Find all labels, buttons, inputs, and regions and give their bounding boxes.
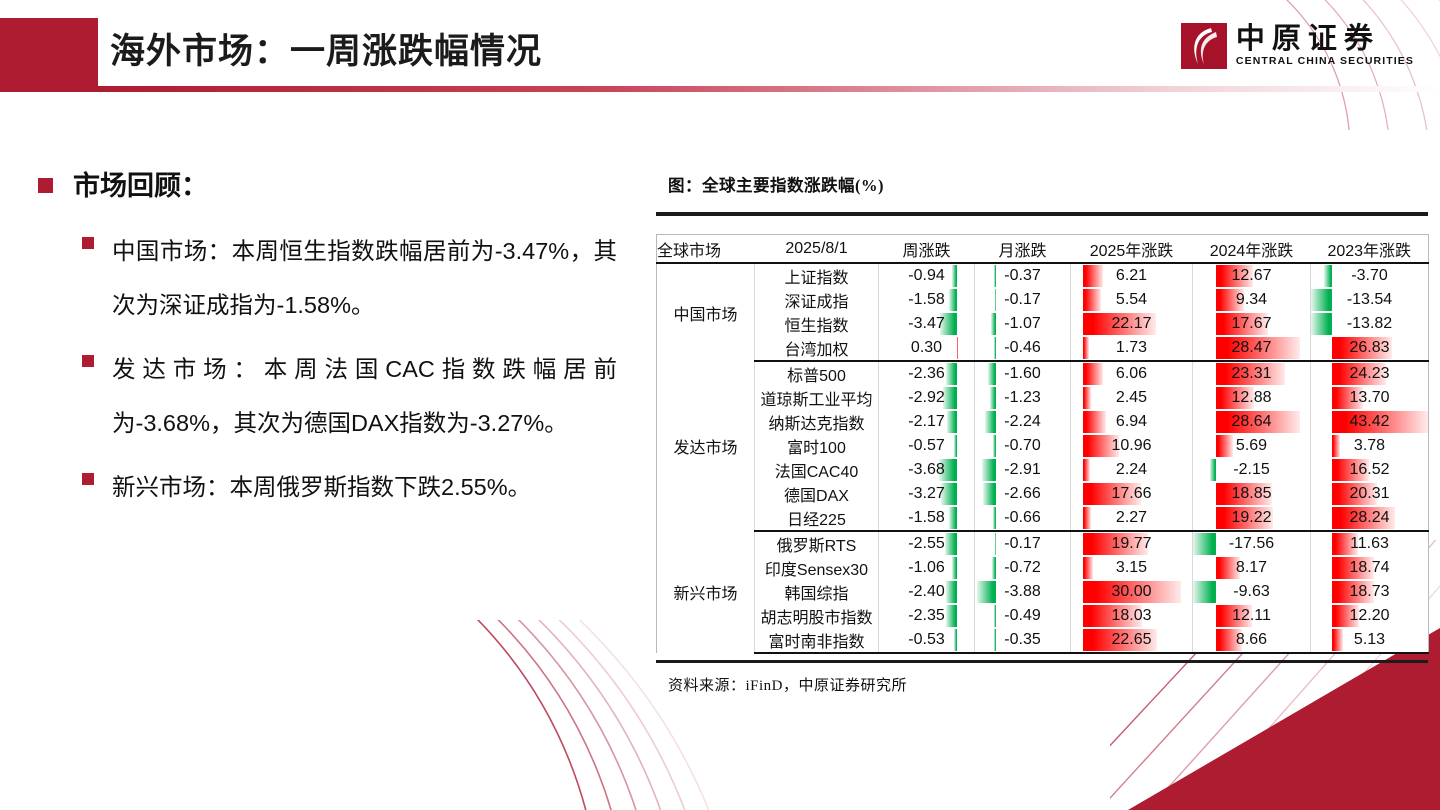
cell-value: 13.70 bbox=[1311, 386, 1428, 410]
cell-value: -3.70 bbox=[1311, 264, 1428, 288]
cell-value: 24.23 bbox=[1311, 362, 1428, 386]
cell-value: 5.69 bbox=[1193, 434, 1310, 458]
cell-value: 10.96 bbox=[1071, 434, 1192, 458]
cell-value: -0.49 bbox=[975, 604, 1070, 628]
cell-value: 3.15 bbox=[1071, 556, 1192, 580]
cell-week: 0.30 bbox=[879, 336, 975, 361]
index-name: 台湾加权 bbox=[755, 336, 879, 361]
cell-value: 8.17 bbox=[1193, 556, 1310, 580]
cell-value: -1.06 bbox=[879, 556, 974, 580]
cell-value: -2.40 bbox=[879, 580, 974, 604]
cell-y2023: 26.83 bbox=[1311, 336, 1429, 361]
index-name: 法国CAC40 bbox=[755, 458, 879, 482]
cell-value: 5.13 bbox=[1311, 628, 1428, 652]
cell-y2023: 28.24 bbox=[1311, 506, 1429, 531]
cell-week: -2.40 bbox=[879, 580, 975, 604]
cell-value: 6.21 bbox=[1071, 264, 1192, 288]
cell-y2023: 18.73 bbox=[1311, 580, 1429, 604]
cell-value: 28.64 bbox=[1193, 410, 1310, 434]
cell-y2023: 43.42 bbox=[1311, 410, 1429, 434]
cell-week: -0.53 bbox=[879, 628, 975, 653]
cell-y2025: 6.94 bbox=[1071, 410, 1193, 434]
cell-week: -2.92 bbox=[879, 386, 975, 410]
row-group-label: 中国市场 bbox=[657, 263, 755, 361]
cell-y2023: 5.13 bbox=[1311, 628, 1429, 653]
index-name: 恒生指数 bbox=[755, 312, 879, 336]
cell-y2023: 18.74 bbox=[1311, 556, 1429, 580]
market-review-heading-label: 市场回顾： bbox=[73, 168, 208, 204]
cell-value: 19.22 bbox=[1193, 506, 1310, 530]
cell-y2024: 12.11 bbox=[1193, 604, 1311, 628]
cell-value: -9.63 bbox=[1193, 580, 1310, 604]
cell-value: -0.57 bbox=[879, 434, 974, 458]
cell-value: -2.36 bbox=[879, 362, 974, 386]
cell-value: -0.72 bbox=[975, 556, 1070, 580]
cell-value: -3.68 bbox=[879, 458, 974, 482]
table-row: 发达市场标普500-2.36-1.606.0623.3124.23 bbox=[657, 361, 1429, 386]
bullet-square-icon bbox=[38, 178, 53, 193]
cell-value: 9.34 bbox=[1193, 288, 1310, 312]
cell-value: 5.54 bbox=[1071, 288, 1192, 312]
cell-value: -0.94 bbox=[879, 264, 974, 288]
cell-y2025: 22.17 bbox=[1071, 312, 1193, 336]
cell-value: -0.66 bbox=[975, 506, 1070, 530]
bullet-item-china: 中国市场：本周恒生指数跌幅居前为-3.47%，其次为深证成指为-1.58%。 bbox=[82, 224, 648, 332]
bullet-square-icon bbox=[82, 237, 94, 249]
logo-name-cn: 中原证券 bbox=[1236, 24, 1414, 55]
cell-value: -0.46 bbox=[975, 336, 1070, 360]
cell-value: -2.91 bbox=[975, 458, 1070, 482]
index-name: 俄罗斯RTS bbox=[755, 531, 879, 556]
cell-value: 19.77 bbox=[1071, 532, 1192, 556]
cell-value: -2.35 bbox=[879, 604, 974, 628]
cell-y2025: 2.27 bbox=[1071, 506, 1193, 531]
cell-month: -0.17 bbox=[975, 531, 1071, 556]
cell-y2024: 8.66 bbox=[1193, 628, 1311, 653]
index-name: 富时南非指数 bbox=[755, 628, 879, 653]
cell-value: 20.31 bbox=[1311, 482, 1428, 506]
cell-value: 22.17 bbox=[1071, 312, 1192, 336]
cell-value: 1.73 bbox=[1071, 336, 1192, 360]
cell-y2024: 12.88 bbox=[1193, 386, 1311, 410]
cell-month: -0.72 bbox=[975, 556, 1071, 580]
cell-value: -2.55 bbox=[879, 532, 974, 556]
table-row: 印度Sensex30-1.06-0.723.158.1718.74 bbox=[657, 556, 1429, 580]
cell-y2025: 6.06 bbox=[1071, 361, 1193, 386]
table-row: 德国DAX-3.27-2.6617.6618.8520.31 bbox=[657, 482, 1429, 506]
row-group-label: 新兴市场 bbox=[657, 531, 755, 653]
cell-y2024: 9.34 bbox=[1193, 288, 1311, 312]
cell-value: -13.82 bbox=[1311, 312, 1428, 336]
col-header-week: 周涨跌 bbox=[879, 235, 975, 264]
cell-y2023: 16.52 bbox=[1311, 458, 1429, 482]
cell-value: 17.67 bbox=[1193, 312, 1310, 336]
cell-week: -2.55 bbox=[879, 531, 975, 556]
cell-value: 12.11 bbox=[1193, 604, 1310, 628]
table-row: 纳斯达克指数-2.17-2.246.9428.6443.42 bbox=[657, 410, 1429, 434]
cell-value: 28.24 bbox=[1311, 506, 1428, 530]
cell-value: 18.03 bbox=[1071, 604, 1192, 628]
bullet-square-icon bbox=[82, 473, 94, 485]
figure-source: 资料来源：iFinD，中原证券研究所 bbox=[668, 674, 1428, 695]
cell-y2025: 2.45 bbox=[1071, 386, 1193, 410]
cell-value: -3.27 bbox=[879, 482, 974, 506]
cell-month: -0.37 bbox=[975, 263, 1071, 288]
logo-mark-icon bbox=[1181, 23, 1227, 69]
cell-value: 12.67 bbox=[1193, 264, 1310, 288]
col-header-y2025: 2025年涨跌 bbox=[1071, 235, 1193, 264]
cell-month: -2.66 bbox=[975, 482, 1071, 506]
index-name: 德国DAX bbox=[755, 482, 879, 506]
index-name: 标普500 bbox=[755, 361, 879, 386]
cell-value: -3.88 bbox=[975, 580, 1070, 604]
cell-week: -1.58 bbox=[879, 506, 975, 531]
cell-value: -13.54 bbox=[1311, 288, 1428, 312]
cell-value: -17.56 bbox=[1193, 532, 1310, 556]
cell-value: 12.20 bbox=[1311, 604, 1428, 628]
cell-y2025: 6.21 bbox=[1071, 263, 1193, 288]
index-name: 深证成指 bbox=[755, 288, 879, 312]
cell-value: 26.83 bbox=[1311, 336, 1428, 360]
cell-week: -1.58 bbox=[879, 288, 975, 312]
cell-value: -2.15 bbox=[1193, 458, 1310, 482]
cell-month: -3.88 bbox=[975, 580, 1071, 604]
cell-value: -0.17 bbox=[975, 532, 1070, 556]
index-name: 上证指数 bbox=[755, 263, 879, 288]
cell-value: 2.27 bbox=[1071, 506, 1192, 530]
col-header-date: 2025/8/1 bbox=[755, 235, 879, 264]
cell-value: -1.60 bbox=[975, 362, 1070, 386]
cell-y2023: 13.70 bbox=[1311, 386, 1429, 410]
bullet-item-developed-label: 发达市场：本周法国CAC指数跌幅居前为-3.68%，其次为德国DAX指数为-3.… bbox=[112, 342, 617, 450]
cell-value: 16.52 bbox=[1311, 458, 1428, 482]
decorative-arcs-bottomleft bbox=[0, 620, 760, 810]
cell-week: -3.68 bbox=[879, 458, 975, 482]
table-row: 富时南非指数-0.53-0.3522.658.665.13 bbox=[657, 628, 1429, 653]
cell-y2023: -13.54 bbox=[1311, 288, 1429, 312]
cell-value: -0.17 bbox=[975, 288, 1070, 312]
table-row: 富时100-0.57-0.7010.965.693.78 bbox=[657, 434, 1429, 458]
cell-value: -1.23 bbox=[975, 386, 1070, 410]
cell-y2025: 22.65 bbox=[1071, 628, 1193, 653]
index-name: 印度Sensex30 bbox=[755, 556, 879, 580]
cell-value: 22.65 bbox=[1071, 628, 1192, 652]
cell-month: -2.91 bbox=[975, 458, 1071, 482]
cell-y2024: -17.56 bbox=[1193, 531, 1311, 556]
table-row: 台湾加权0.30-0.461.7328.4726.83 bbox=[657, 336, 1429, 361]
cell-month: -0.66 bbox=[975, 506, 1071, 531]
cell-value: 6.06 bbox=[1071, 362, 1192, 386]
cell-value: 6.94 bbox=[1071, 410, 1192, 434]
cell-value: 23.31 bbox=[1193, 362, 1310, 386]
company-logo: 中原证券 CENTRAL CHINA SECURITIES bbox=[1181, 20, 1414, 72]
cell-y2025: 17.66 bbox=[1071, 482, 1193, 506]
bullet-item-emerging-label: 新兴市场：本周俄罗斯指数下跌2.55%。 bbox=[112, 460, 617, 514]
table-row: 法国CAC40-3.68-2.912.24-2.1516.52 bbox=[657, 458, 1429, 482]
cell-y2024: 12.67 bbox=[1193, 263, 1311, 288]
table-row: 新兴市场俄罗斯RTS-2.55-0.1719.77-17.5611.63 bbox=[657, 531, 1429, 556]
market-review-heading: 市场回顾： bbox=[38, 168, 648, 204]
page-title: 海外市场：一周涨跌幅情况 bbox=[110, 24, 542, 80]
header-rule bbox=[98, 86, 1440, 92]
header-accent-block bbox=[0, 18, 98, 92]
market-review-panel: 市场回顾： 中国市场：本周恒生指数跌幅居前为-3.47%，其次为深证成指为-1.… bbox=[38, 168, 648, 524]
cell-y2025: 30.00 bbox=[1071, 580, 1193, 604]
cell-value: 11.63 bbox=[1311, 532, 1428, 556]
cell-value: -0.53 bbox=[879, 628, 974, 652]
cell-value: 2.45 bbox=[1071, 386, 1192, 410]
cell-value: -0.70 bbox=[975, 434, 1070, 458]
cell-value: 43.42 bbox=[1311, 410, 1428, 434]
cell-month: -0.46 bbox=[975, 336, 1071, 361]
cell-y2024: 19.22 bbox=[1193, 506, 1311, 531]
cell-y2023: 12.20 bbox=[1311, 604, 1429, 628]
bullet-item-china-label: 中国市场：本周恒生指数跌幅居前为-3.47%，其次为深证成指为-1.58%。 bbox=[112, 224, 617, 332]
index-name: 纳斯达克指数 bbox=[755, 410, 879, 434]
cell-value: 28.47 bbox=[1193, 336, 1310, 360]
cell-week: -2.35 bbox=[879, 604, 975, 628]
figure-panel: 图：全球主要指数涨跌幅(%) 全球市场 2025/8/1 周涨跌 月涨跌 202… bbox=[656, 172, 1428, 695]
cell-month: -0.35 bbox=[975, 628, 1071, 653]
cell-value: 3.78 bbox=[1311, 434, 1428, 458]
table-header-row: 全球市场 2025/8/1 周涨跌 月涨跌 2025年涨跌 2024年涨跌 20… bbox=[657, 235, 1429, 264]
index-name: 日经225 bbox=[755, 506, 879, 531]
cell-y2023: 24.23 bbox=[1311, 361, 1429, 386]
cell-y2024: 18.85 bbox=[1193, 482, 1311, 506]
cell-value: 8.66 bbox=[1193, 628, 1310, 652]
cell-y2024: -9.63 bbox=[1193, 580, 1311, 604]
cell-value: 18.73 bbox=[1311, 580, 1428, 604]
cell-value: 12.88 bbox=[1193, 386, 1310, 410]
cell-month: -0.17 bbox=[975, 288, 1071, 312]
cell-y2025: 19.77 bbox=[1071, 531, 1193, 556]
col-header-month: 月涨跌 bbox=[975, 235, 1071, 264]
cell-month: -0.70 bbox=[975, 434, 1071, 458]
cell-week: -3.27 bbox=[879, 482, 975, 506]
global-index-table: 全球市场 2025/8/1 周涨跌 月涨跌 2025年涨跌 2024年涨跌 20… bbox=[656, 234, 1429, 654]
logo-name-en: CENTRAL CHINA SECURITIES bbox=[1236, 55, 1414, 68]
cell-value: 17.66 bbox=[1071, 482, 1192, 506]
row-group-label: 发达市场 bbox=[657, 361, 755, 531]
cell-y2024: -2.15 bbox=[1193, 458, 1311, 482]
cell-y2024: 17.67 bbox=[1193, 312, 1311, 336]
cell-y2023: 3.78 bbox=[1311, 434, 1429, 458]
cell-y2024: 23.31 bbox=[1193, 361, 1311, 386]
cell-value: 0.30 bbox=[879, 336, 974, 360]
cell-y2025: 18.03 bbox=[1071, 604, 1193, 628]
cell-y2025: 5.54 bbox=[1071, 288, 1193, 312]
col-header-market: 全球市场 bbox=[657, 235, 755, 264]
col-header-y2024: 2024年涨跌 bbox=[1193, 235, 1311, 264]
cell-y2024: 5.69 bbox=[1193, 434, 1311, 458]
cell-value: -2.24 bbox=[975, 410, 1070, 434]
cell-y2023: 11.63 bbox=[1311, 531, 1429, 556]
table-row: 韩国综指-2.40-3.8830.00-9.6318.73 bbox=[657, 580, 1429, 604]
cell-month: -1.23 bbox=[975, 386, 1071, 410]
table-row: 日经225-1.58-0.662.2719.2228.24 bbox=[657, 506, 1429, 531]
index-name: 胡志明股市指数 bbox=[755, 604, 879, 628]
cell-value: -2.17 bbox=[879, 410, 974, 434]
cell-week: -0.94 bbox=[879, 263, 975, 288]
cell-value: -1.07 bbox=[975, 312, 1070, 336]
figure-rule-top bbox=[656, 212, 1428, 216]
col-header-y2023: 2023年涨跌 bbox=[1311, 235, 1429, 264]
cell-value: -1.58 bbox=[879, 288, 974, 312]
bullet-square-icon bbox=[82, 355, 94, 367]
cell-value: -0.35 bbox=[975, 628, 1070, 652]
index-name: 富时100 bbox=[755, 434, 879, 458]
cell-month: -1.60 bbox=[975, 361, 1071, 386]
bullet-item-emerging: 新兴市场：本周俄罗斯指数下跌2.55%。 bbox=[82, 460, 648, 514]
cell-week: -3.47 bbox=[879, 312, 975, 336]
cell-week: -2.17 bbox=[879, 410, 975, 434]
cell-y2025: 10.96 bbox=[1071, 434, 1193, 458]
cell-week: -1.06 bbox=[879, 556, 975, 580]
cell-value: -2.66 bbox=[975, 482, 1070, 506]
cell-y2025: 3.15 bbox=[1071, 556, 1193, 580]
cell-value: -3.47 bbox=[879, 312, 974, 336]
cell-y2023: -13.82 bbox=[1311, 312, 1429, 336]
cell-value: 18.85 bbox=[1193, 482, 1310, 506]
cell-value: 2.24 bbox=[1071, 458, 1192, 482]
figure-rule-bottom bbox=[656, 660, 1428, 663]
table-row: 胡志明股市指数-2.35-0.4918.0312.1112.20 bbox=[657, 604, 1429, 628]
index-name: 韩国综指 bbox=[755, 580, 879, 604]
cell-y2024: 28.47 bbox=[1193, 336, 1311, 361]
cell-value: 18.74 bbox=[1311, 556, 1428, 580]
figure-title: 图：全球主要指数涨跌幅(%) bbox=[668, 172, 1428, 196]
cell-y2023: -3.70 bbox=[1311, 263, 1429, 288]
cell-value: 30.00 bbox=[1071, 580, 1192, 604]
cell-month: -2.24 bbox=[975, 410, 1071, 434]
bullet-item-developed: 发达市场：本周法国CAC指数跌幅居前为-3.68%，其次为德国DAX指数为-3.… bbox=[82, 342, 648, 450]
cell-month: -0.49 bbox=[975, 604, 1071, 628]
table-row: 中国市场上证指数-0.94-0.376.2112.67-3.70 bbox=[657, 263, 1429, 288]
cell-value: -1.58 bbox=[879, 506, 974, 530]
table-row: 恒生指数-3.47-1.0722.1717.67-13.82 bbox=[657, 312, 1429, 336]
cell-y2023: 20.31 bbox=[1311, 482, 1429, 506]
cell-y2025: 2.24 bbox=[1071, 458, 1193, 482]
cell-week: -0.57 bbox=[879, 434, 975, 458]
cell-month: -1.07 bbox=[975, 312, 1071, 336]
cell-y2024: 8.17 bbox=[1193, 556, 1311, 580]
table-row: 道琼斯工业平均-2.92-1.232.4512.8813.70 bbox=[657, 386, 1429, 410]
cell-y2024: 28.64 bbox=[1193, 410, 1311, 434]
cell-week: -2.36 bbox=[879, 361, 975, 386]
cell-value: -2.92 bbox=[879, 386, 974, 410]
cell-value: -0.37 bbox=[975, 264, 1070, 288]
table-row: 深证成指-1.58-0.175.549.34-13.54 bbox=[657, 288, 1429, 312]
cell-y2025: 1.73 bbox=[1071, 336, 1193, 361]
index-name: 道琼斯工业平均 bbox=[755, 386, 879, 410]
